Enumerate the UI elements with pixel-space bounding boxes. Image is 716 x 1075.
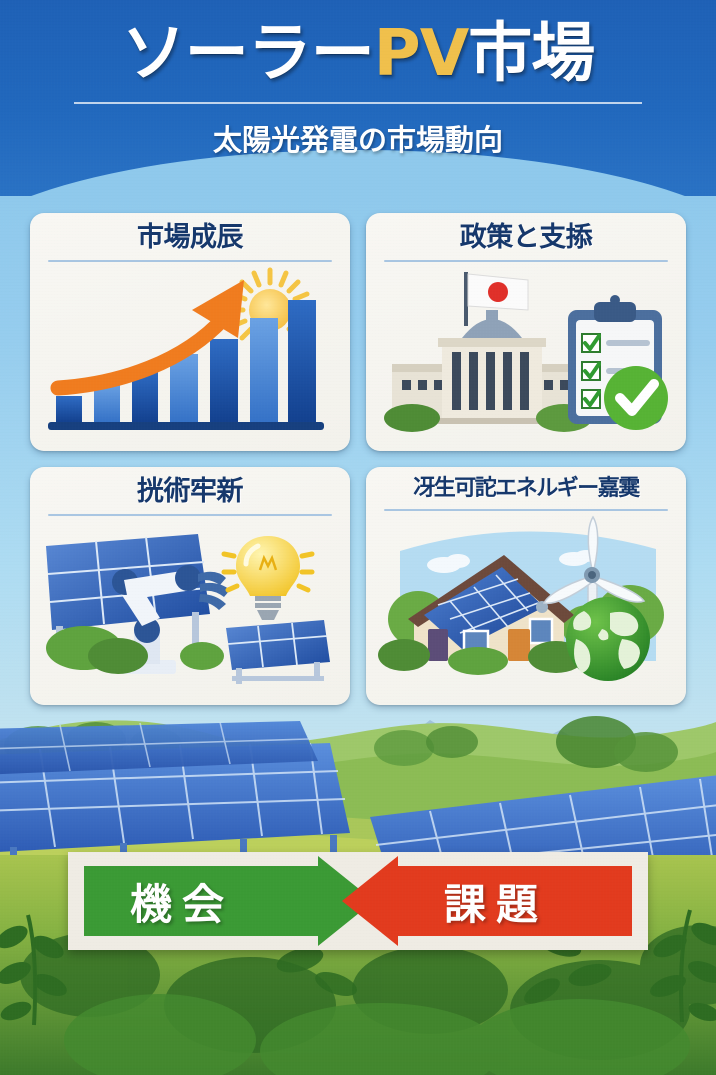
renewable-demand-illustration [378, 515, 674, 687]
card-divider [384, 260, 668, 262]
card-divider [48, 514, 332, 516]
card-technology-innovation[interactable]: 挄術牢新 [30, 467, 350, 705]
technology-innovation-illustration [42, 520, 338, 692]
card-title-renewable-demand: 冴生可詑エネルギー嘉霙 [378, 477, 674, 501]
title-suffix: 市場 [468, 17, 594, 91]
opportunities-challenges-banner: 機会 課題 [68, 852, 648, 950]
title-prefix: ソーラー [122, 17, 374, 91]
card-grid: 市場成辰 [30, 213, 686, 705]
card-policy-support[interactable]: 政策と支掭 [366, 213, 686, 451]
title-divider [74, 102, 642, 104]
bar-series [56, 300, 316, 422]
page-title: ソーラーPV市場 [0, 22, 716, 86]
page-subtitle: 太陽光発電の市場動向 [0, 117, 716, 159]
banner-label-opportunities: 機会 [130, 852, 234, 950]
card-title-policy-support: 政策と支掭 [378, 223, 674, 252]
lightbulb-icon [224, 536, 312, 620]
card-divider [384, 509, 668, 511]
card-market-growth[interactable]: 市場成辰 [30, 213, 350, 451]
check-badge-icon [604, 366, 668, 430]
card-renewable-demand[interactable]: 冴生可詑エネルギー嘉霙 [366, 467, 686, 705]
card-divider [48, 260, 332, 262]
title-accent-pv: PV [374, 17, 468, 91]
infographic-poster: ソーラーPV市場 太陽光発電の市場動向 市場成辰 [0, 0, 716, 1075]
small-solar-panel-icon [226, 620, 330, 684]
green-globe-icon [566, 597, 650, 681]
market-growth-illustration [42, 266, 338, 438]
policy-support-illustration [378, 266, 674, 438]
card-title-market-growth: 市場成辰 [42, 223, 338, 252]
banner-label-challenges: 課題 [444, 852, 548, 950]
poster-header: ソーラーPV市場 太陽光発電の市場動向 [0, 0, 716, 196]
card-title-technology-innovation: 挄術牢新 [42, 477, 338, 506]
